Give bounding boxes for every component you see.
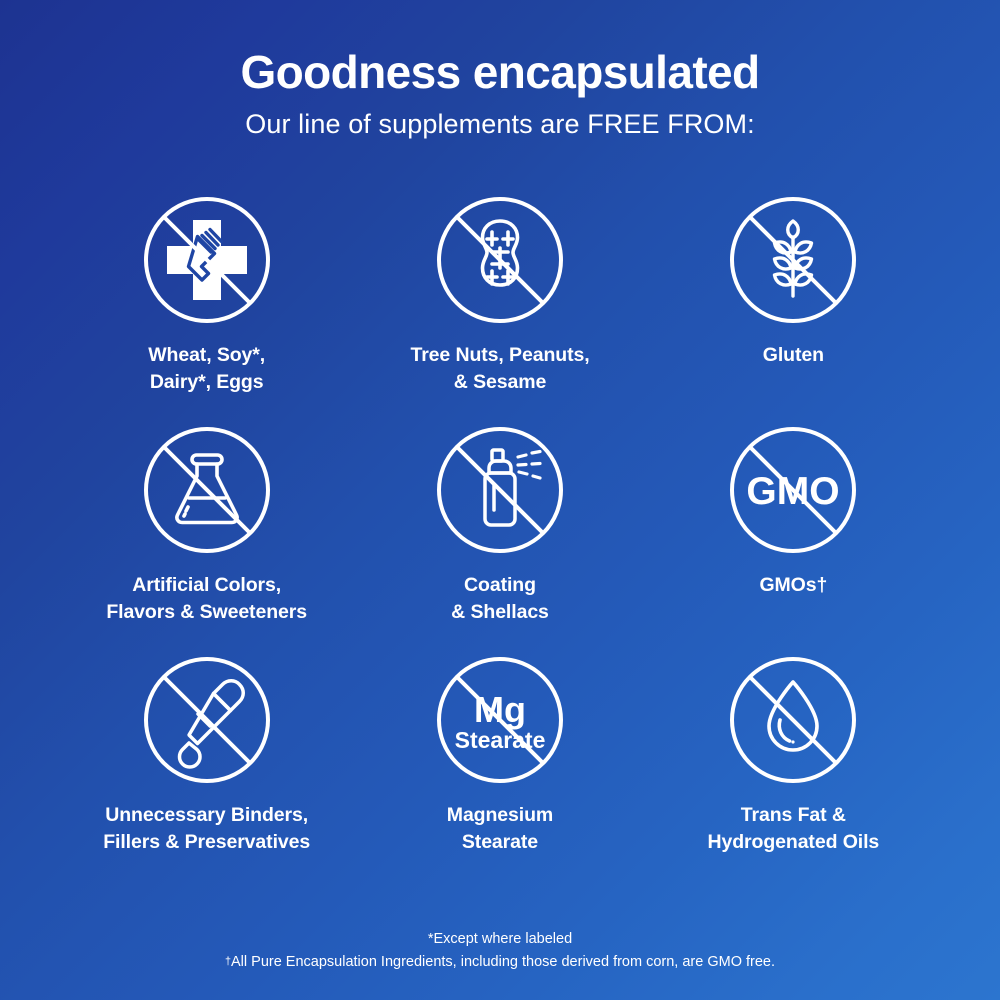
- page-title: Goodness encapsulated: [0, 48, 1000, 96]
- no-wheat-gluten-icon: [725, 192, 861, 328]
- page-subtitle: Our line of supplements are FREE FROM:: [0, 110, 1000, 140]
- no-oil-droplet-icon: [725, 652, 861, 788]
- no-magnesium-stearate-icon-text-primary: Mg: [474, 689, 526, 730]
- no-dropper-icon: [139, 652, 275, 788]
- grid-item-label: Wheat, Soy*, Dairy*, Eggs: [148, 342, 265, 396]
- no-spray-can-icon: [432, 422, 568, 558]
- grid-item: Mg Stearate Magnesium Stearate: [353, 652, 646, 882]
- grid-item-label: Magnesium Stearate: [447, 802, 553, 856]
- poster-canvas: Goodness encapsulated Our line of supple…: [0, 0, 1000, 1000]
- grid-item: Tree Nuts, Peanuts, & Sesame: [353, 192, 646, 422]
- free-from-grid: Wheat, Soy*, Dairy*, Eggs: [60, 192, 940, 882]
- header: Goodness encapsulated Our line of supple…: [0, 0, 1000, 140]
- grid-item: Unnecessary Binders, Fillers & Preservat…: [60, 652, 353, 882]
- no-gmo-icon: GMO: [725, 422, 861, 558]
- no-peanut-icon: [432, 192, 568, 328]
- grid-item-label: Unnecessary Binders, Fillers & Preservat…: [103, 802, 310, 856]
- grid-item-label: GMOs†: [759, 572, 827, 599]
- grid-item: Gluten: [647, 192, 940, 422]
- no-gmo-icon-text: GMO: [747, 470, 840, 513]
- footnote-dagger: †All Pure Encapsulation Ingredients, inc…: [0, 951, 1000, 974]
- grid-item-label: Artificial Colors, Flavors & Sweeteners: [106, 572, 307, 626]
- grid-item: Coating & Shellacs: [353, 422, 646, 652]
- no-magnesium-stearate-icon-text-secondary: Stearate: [455, 727, 546, 753]
- footnotes: *Except where labeled †All Pure Encapsul…: [0, 928, 1000, 975]
- grid-item-label: Gluten: [763, 342, 824, 369]
- footnote-asterisk: *Except where labeled: [0, 928, 1000, 951]
- no-flask-icon: [139, 422, 275, 558]
- no-allergen-cross-fork-icon: [139, 192, 275, 328]
- grid-item-label: Trans Fat & Hydrogenated Oils: [707, 802, 879, 856]
- grid-item-label: Coating & Shellacs: [451, 572, 549, 626]
- no-magnesium-stearate-icon: Mg Stearate: [432, 652, 568, 788]
- grid-item: GMO GMOs†: [647, 422, 940, 652]
- grid-item: Wheat, Soy*, Dairy*, Eggs: [60, 192, 353, 422]
- grid-item: Artificial Colors, Flavors & Sweeteners: [60, 422, 353, 652]
- grid-item: Trans Fat & Hydrogenated Oils: [647, 652, 940, 882]
- footnote-dagger-text: All Pure Encapsulation Ingredients, incl…: [231, 954, 775, 970]
- grid-item-label: Tree Nuts, Peanuts, & Sesame: [410, 342, 589, 396]
